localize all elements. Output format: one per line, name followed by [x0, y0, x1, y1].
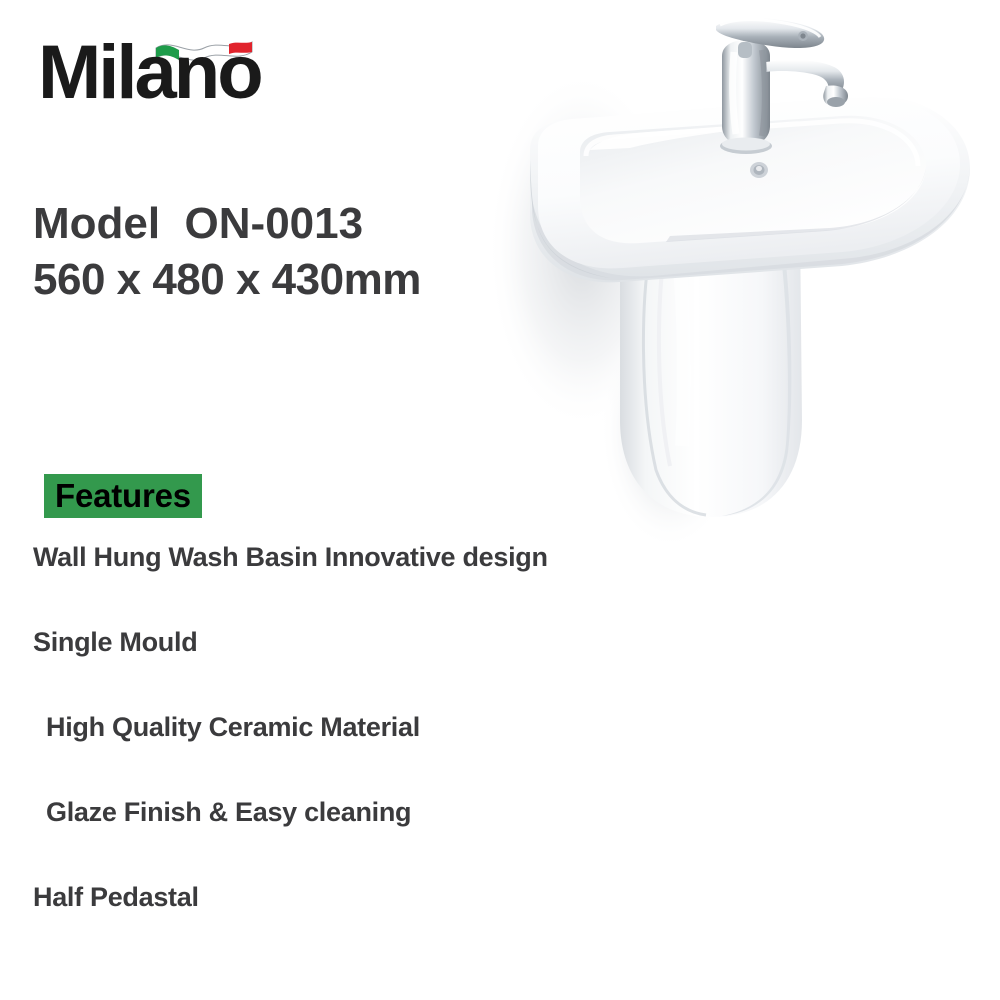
overflow-hole-icon [750, 162, 768, 178]
product-photo [470, 0, 1000, 560]
feature-label: Single Mould [33, 625, 197, 659]
features-heading-wrapper: Features [44, 474, 202, 518]
feature-label: High Quality Ceramic Material [46, 710, 420, 744]
list-item: Glaze Finish & Easy cleaning [0, 795, 760, 880]
features-list: Wall Hung Wash Basin Innovative design S… [0, 540, 760, 965]
list-item: Half Pedastal [0, 880, 760, 965]
list-item: Single Mould [0, 625, 760, 710]
feature-label: Half Pedastal [33, 880, 199, 914]
list-item: High Quality Ceramic Material [0, 710, 760, 795]
feature-label: Glaze Finish & Easy cleaning [46, 795, 411, 829]
brand-logo: Milano [38, 26, 308, 108]
brand-wordmark: Milano [38, 30, 261, 108]
features-heading: Features [44, 474, 202, 518]
